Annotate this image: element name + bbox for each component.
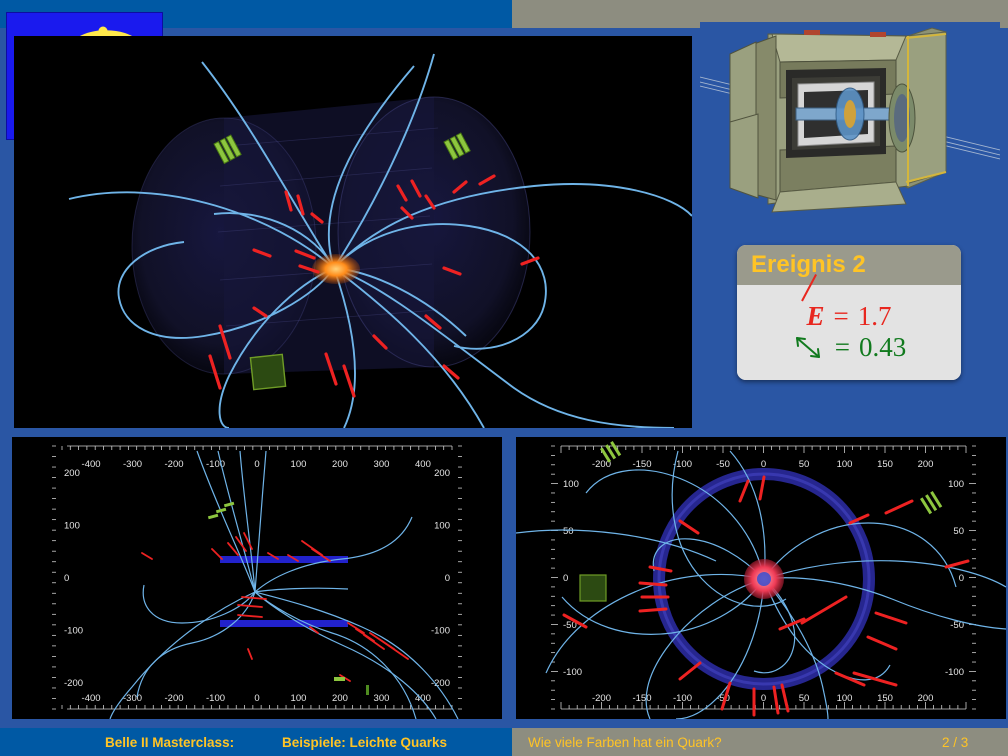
svg-text:400: 400 [415,459,431,470]
svg-text:-100: -100 [64,626,83,637]
event-info-title: Ereignis 2 [751,251,866,279]
svg-text:-300: -300 [123,459,142,470]
event-display-3d[interactable] [14,36,692,428]
svg-text:-100: -100 [945,667,964,678]
detector-render-canvas [700,22,1000,218]
thrust-operator: = [835,334,850,361]
svg-text:-150: -150 [632,459,651,470]
thrust-value: 0.43 [859,334,906,361]
svg-text:100: 100 [64,520,80,531]
svg-text:50: 50 [799,459,810,470]
svg-text:0: 0 [761,693,766,704]
svg-text:50: 50 [799,693,810,704]
svg-text:-400: -400 [82,459,101,470]
svg-text:-200: -200 [64,678,83,689]
event-display-side-view[interactable]: -400-300-200-1000100200300400 -400-300-2… [12,437,502,719]
svg-text:50: 50 [953,526,964,537]
footer-title: Wie viele Farben hat ein Quark? [528,728,722,756]
missing-energy-row: E = 1.7 [807,303,892,330]
svg-text:0: 0 [64,573,69,584]
svg-text:-150: -150 [632,693,651,704]
interaction-point [312,254,360,284]
front-view-canvas: -200-150-100-50050100150200 -200-150-100… [516,437,1006,719]
svg-text:-200: -200 [165,693,184,704]
svg-text:0: 0 [254,459,259,470]
svg-text:-100: -100 [563,667,582,678]
event-display-front-view[interactable]: -200-150-100-50050100150200 -200-150-100… [516,437,1006,719]
svg-text:-400: -400 [82,693,101,704]
svg-text:0: 0 [563,573,568,584]
detector-barrel-volume [132,97,530,374]
svg-text:200: 200 [332,459,348,470]
svg-text:200: 200 [918,459,934,470]
missing-energy-value: 1.7 [858,303,892,330]
event-info-box: Ereignis 2 E = 1.7 = 0.43 [737,245,961,380]
svg-text:-200: -200 [431,678,450,689]
missing-energy-slashed-e-icon: E [807,303,825,330]
missing-energy-operator: = [834,303,849,330]
footer-page-indicator: 2 / 3 [942,728,968,756]
svg-text:200: 200 [332,693,348,704]
svg-text:100: 100 [563,479,579,490]
svg-text:-200: -200 [165,459,184,470]
svg-text:0: 0 [445,573,450,584]
svg-text:0: 0 [254,693,259,704]
svg-text:-100: -100 [206,693,225,704]
event-info-header: Ereignis 2 [737,245,961,285]
svg-text:100: 100 [948,479,964,490]
footer-author: Belle II Masterclass: [105,728,234,756]
svg-text:-200: -200 [592,693,611,704]
detector-render [700,22,1000,218]
svg-text:-100: -100 [673,693,692,704]
svg-text:200: 200 [434,468,450,479]
svg-text:-50: -50 [716,459,730,470]
footer-section: Beispiele: Leichte Quarks [282,728,447,756]
svg-text:200: 200 [64,468,80,479]
svg-text:150: 150 [877,459,893,470]
svg-text:200: 200 [918,693,934,704]
footer-bar: Belle II Masterclass: Beispiele: Leichte… [0,728,1008,756]
thrust-row: = 0.43 [792,332,906,362]
svg-text:100: 100 [434,520,450,531]
svg-text:0: 0 [959,573,964,584]
svg-text:100: 100 [837,459,853,470]
thrust-double-arrow-icon [792,332,826,362]
svg-text:100: 100 [837,693,853,704]
svg-text:300: 300 [374,693,390,704]
svg-text:50: 50 [563,526,574,537]
svg-text:100: 100 [291,459,307,470]
event-info-body: E = 1.7 = 0.43 [737,285,961,380]
svg-text:150: 150 [877,693,893,704]
svg-text:100: 100 [291,693,307,704]
svg-text:300: 300 [374,459,390,470]
side-view-canvas: -400-300-200-1000100200300400 -400-300-2… [12,437,502,719]
event-display-3d-canvas [14,36,692,428]
svg-text:-100: -100 [431,626,450,637]
